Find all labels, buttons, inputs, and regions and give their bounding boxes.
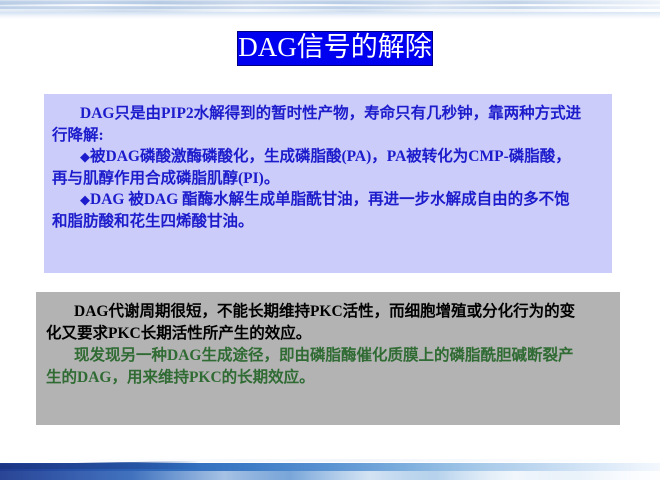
purple-line-3: ◆被DAG磷酸激酶磷酸化，生成磷脂酸(PA)，PA被转化为CMP-磷脂酸，	[52, 146, 600, 168]
top-banner-fade	[0, 12, 660, 19]
purple-line-2: 行降解:	[52, 125, 600, 147]
purple-line-6: 和脂肪酸和花生四烯酸甘油。	[52, 211, 600, 233]
gray-green-line-1: 现发现另一种DAG生成途径，即由磷脂酶催化质膜上的磷脂酰胆碱断裂产	[46, 345, 608, 367]
gray-content-box: DAG代谢周期很短，不能长期维持PKC活性，而细胞增殖或分化行为的变 化又要求P…	[36, 292, 620, 425]
purple-line-5: ◆DAG 被DAG 酯酶水解生成单脂酰甘油，再进一步水解成自由的多不饱	[52, 189, 600, 211]
top-banner-streak-upper	[0, 4, 660, 6]
gray-green-line-2: 生的DAG，用来维持PKC的长期效应。	[46, 367, 608, 389]
bottom-banner-cloud-streak	[0, 471, 660, 480]
slide-title-box: DAG信号的解除	[237, 31, 433, 66]
gray-black-line-2: 化又要求PKC长期活性所产生的效应。	[46, 323, 608, 345]
bottom-banner-top-rule	[0, 459, 660, 462]
purple-line-4: 再与肌醇作用合成磷脂肌醇(PI)。	[52, 168, 600, 190]
slide-canvas: DAG信号的解除 DAG只是由PIP2水解得到的暂时性产物，寿命只有几秒钟，靠两…	[0, 0, 660, 480]
purple-line-5-text: DAG 被DAG 酯酶水解生成单脂酰甘油，再进一步水解成自由的多不饱	[90, 191, 570, 208]
purple-line-1: DAG只是由PIP2水解得到的暂时性产物，寿命只有几秒钟，靠两种方式进	[52, 103, 600, 125]
diamond-bullet-icon: ◆	[80, 192, 90, 207]
diamond-bullet-icon: ◆	[80, 149, 90, 164]
purple-line-3-text: 被DAG磷酸激酶磷酸化，生成磷脂酸(PA)，PA被转化为CMP-磷脂酸，	[90, 148, 571, 165]
gray-black-line-1: DAG代谢周期很短，不能长期维持PKC活性，而细胞增殖或分化行为的变	[46, 301, 608, 323]
slide-title-text: DAG信号的解除	[238, 34, 432, 63]
bottom-gradient-banner	[0, 459, 660, 480]
purple-content-box: DAG只是由PIP2水解得到的暂时性产物，寿命只有几秒钟，靠两种方式进 行降解:…	[44, 94, 612, 273]
